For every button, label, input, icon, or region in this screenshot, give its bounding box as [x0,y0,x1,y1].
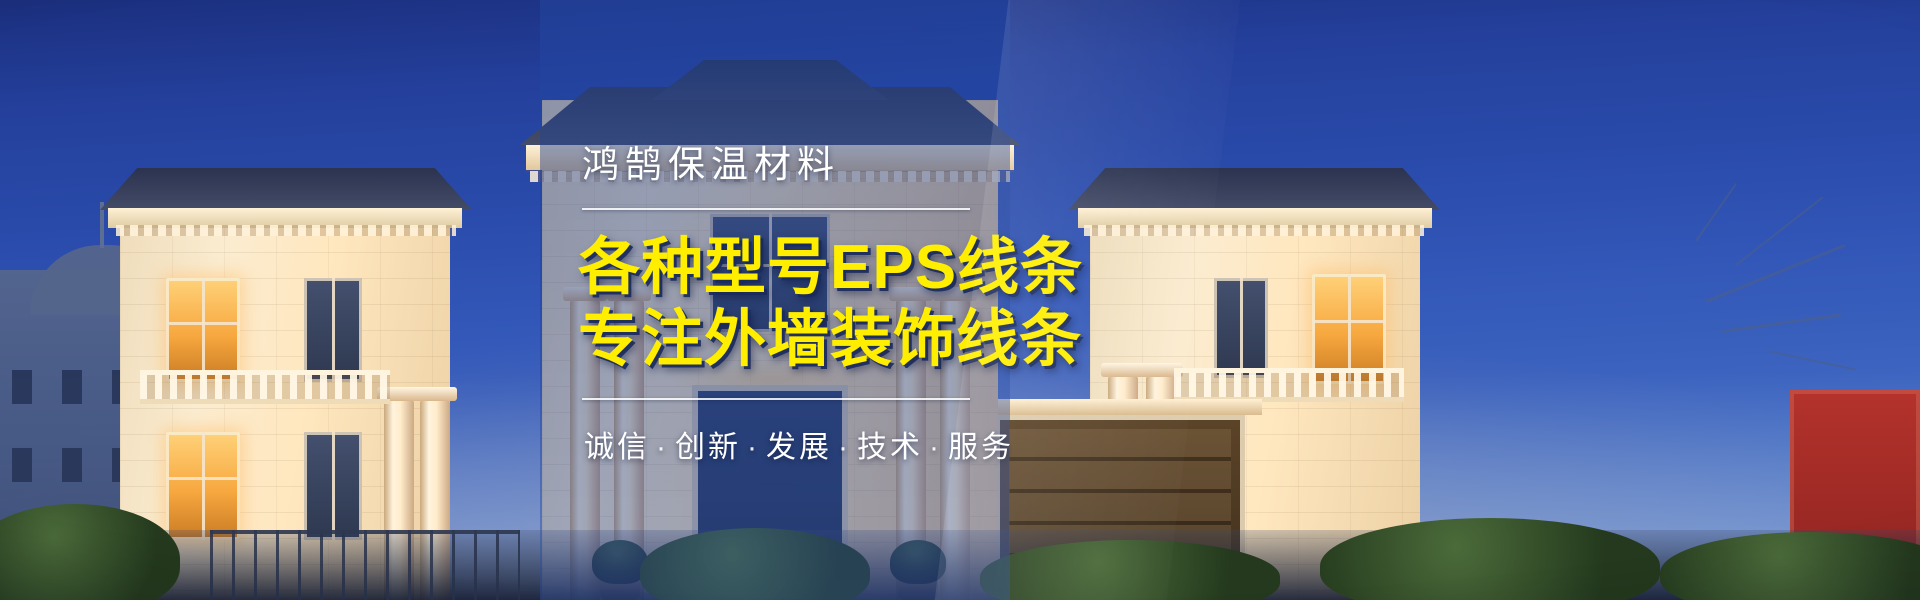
villa-left-dentils [116,225,456,236]
banner-stage: 鸿鹄保温材料 各种型号EPS线条 专注外墙装饰线条 诚信·创新·发展·技术·服务 [0,0,1920,600]
tagline-separator-3: · [923,431,948,464]
divider-top [582,208,970,210]
villa-left-roof [100,168,472,210]
foreground-railing [210,530,520,600]
headline-line-1: 各种型号EPS线条 [578,236,1010,300]
tagline-item-0: 诚信 [584,431,650,464]
headline-group: 各种型号EPS线条 专注外墙装饰线条 [578,236,1010,373]
brand-name: 鸿鹄保温材料 [582,134,1010,188]
tagline-item-4: 服务 [948,431,1014,464]
villa-right-roof [1068,168,1440,210]
tagline-item-3: 技术 [857,431,923,464]
tagline-separator-1: · [741,431,766,464]
tree-branches [1676,180,1896,430]
tagline-item-1: 创新 [675,431,741,464]
villa-right-balustrade [1174,368,1404,402]
text-overlay-panel: 鸿鹄保温材料 各种型号EPS线条 专注外墙装饰线条 诚信·创新·发展·技术·服务 [540,0,1010,600]
headline-line-2: 专注外墙装饰线条 [578,308,1010,372]
tagline: 诚信·创新·发展·技术·服务 [584,422,1010,466]
garage-lintel [978,399,1262,415]
villa-left-balustrade [140,370,390,404]
divider-bottom [582,398,970,400]
tagline-item-2: 发展 [766,431,832,464]
tagline-separator-2: · [832,431,857,464]
tagline-separator-0: · [650,431,675,464]
villa-right-dentils [1084,225,1424,236]
